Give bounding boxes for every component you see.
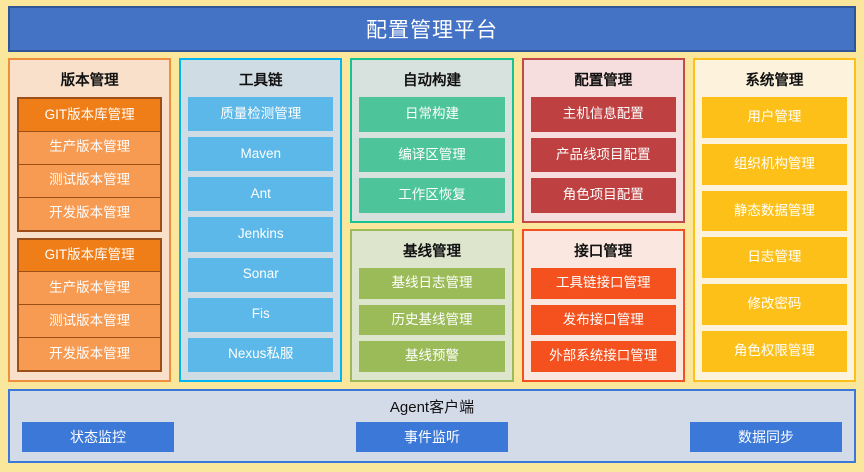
menu-item-git-repo-management[interactable]: GIT版本库管理 bbox=[19, 99, 160, 131]
agent-client-title: Agent客户端 bbox=[22, 396, 842, 422]
agent-client-buttons: 状态监控 事件监听 数据同步 bbox=[22, 422, 842, 452]
menu-item-role-project-config[interactable]: 角色项目配置 bbox=[531, 178, 676, 213]
menu-item-fis[interactable]: Fis bbox=[188, 298, 333, 332]
panel-baseline-management: 基线管理 基线日志管理 历史基线管理 基线预警 bbox=[350, 229, 513, 382]
agent-client-bar: Agent客户端 状态监控 事件监听 数据同步 bbox=[8, 389, 856, 463]
menu-item-test-version-management[interactable]: 测试版本管理 bbox=[19, 165, 160, 197]
menu-item-change-password[interactable]: 修改密码 bbox=[702, 284, 847, 325]
platform-header: 配置管理平台 bbox=[8, 6, 856, 52]
menu-item-daily-build[interactable]: 日常构建 bbox=[359, 97, 504, 132]
menu-item-host-info-config[interactable]: 主机信息配置 bbox=[531, 97, 676, 132]
agent-button-event-listener[interactable]: 事件监听 bbox=[356, 422, 508, 452]
menu-item-jenkins[interactable]: Jenkins bbox=[188, 217, 333, 251]
menu-item-workspace-recovery[interactable]: 工作区恢复 bbox=[359, 178, 504, 213]
panel-title-version-management: 版本管理 bbox=[17, 66, 162, 97]
menu-item-product-line-project-config[interactable]: 产品线项目配置 bbox=[531, 138, 676, 173]
page-title: 配置管理平台 bbox=[366, 14, 498, 44]
panel-title-system-management: 系统管理 bbox=[702, 66, 847, 97]
column-system-management: 系统管理 用户管理 组织机构管理 静态数据管理 日志管理 修改密码 角色权限管理 bbox=[693, 58, 856, 382]
module-columns: 版本管理 GIT版本库管理 生产版本管理 测试版本管理 开发版本管理 GIT版本… bbox=[8, 58, 856, 382]
menu-item-production-version-management[interactable]: 生产版本管理 bbox=[19, 132, 160, 164]
menu-item-log-management[interactable]: 日志管理 bbox=[702, 237, 847, 278]
menu-item-history-baseline-management[interactable]: 历史基线管理 bbox=[359, 305, 504, 336]
version-group-1: GIT版本库管理 生产版本管理 测试版本管理 开发版本管理 bbox=[17, 97, 162, 232]
panel-system-management: 系统管理 用户管理 组织机构管理 静态数据管理 日志管理 修改密码 角色权限管理 bbox=[693, 58, 856, 382]
panel-auto-build: 自动构建 日常构建 编译区管理 工作区恢复 bbox=[350, 58, 513, 223]
column-version-management: 版本管理 GIT版本库管理 生产版本管理 测试版本管理 开发版本管理 GIT版本… bbox=[8, 58, 171, 382]
menu-item-sonar[interactable]: Sonar bbox=[188, 258, 333, 292]
column-toolchain: 工具链 质量检测管理 Maven Ant Jenkins Sonar Fis N… bbox=[179, 58, 342, 382]
menu-item-ant[interactable]: Ant bbox=[188, 177, 333, 211]
panel-title-baseline-management: 基线管理 bbox=[359, 237, 504, 268]
agent-button-status-monitor[interactable]: 状态监控 bbox=[22, 422, 174, 452]
menu-item-maven[interactable]: Maven bbox=[188, 137, 333, 171]
menu-item-compile-area-management[interactable]: 编译区管理 bbox=[359, 138, 504, 173]
menu-item-dev-version-management[interactable]: 开发版本管理 bbox=[19, 198, 160, 230]
menu-item-organization-management[interactable]: 组织机构管理 bbox=[702, 144, 847, 185]
menu-item-static-data-management[interactable]: 静态数据管理 bbox=[702, 191, 847, 232]
panel-toolchain: 工具链 质量检测管理 Maven Ant Jenkins Sonar Fis N… bbox=[179, 58, 342, 382]
panel-title-auto-build: 自动构建 bbox=[359, 66, 504, 97]
panel-interface-management: 接口管理 工具链接口管理 发布接口管理 外部系统接口管理 bbox=[522, 229, 685, 382]
app-root: 配置管理平台 版本管理 GIT版本库管理 生产版本管理 测试版本管理 开发版本管… bbox=[0, 0, 864, 472]
menu-item-quality-inspection-management[interactable]: 质量检测管理 bbox=[188, 97, 333, 131]
menu-item-production-version-management-2[interactable]: 生产版本管理 bbox=[19, 272, 160, 304]
menu-item-role-permission-management[interactable]: 角色权限管理 bbox=[702, 331, 847, 372]
panel-title-config-management: 配置管理 bbox=[531, 66, 676, 97]
menu-item-baseline-alert[interactable]: 基线预警 bbox=[359, 341, 504, 372]
panel-config-management: 配置管理 主机信息配置 产品线项目配置 角色项目配置 bbox=[522, 58, 685, 223]
menu-item-release-interface-management[interactable]: 发布接口管理 bbox=[531, 305, 676, 336]
panel-title-interface-management: 接口管理 bbox=[531, 237, 676, 268]
menu-item-git-repo-management-2[interactable]: GIT版本库管理 bbox=[19, 240, 160, 272]
menu-item-baseline-log-management[interactable]: 基线日志管理 bbox=[359, 268, 504, 299]
panel-version-management: 版本管理 GIT版本库管理 生产版本管理 测试版本管理 开发版本管理 GIT版本… bbox=[8, 58, 171, 382]
agent-button-data-sync[interactable]: 数据同步 bbox=[690, 422, 842, 452]
column-build-baseline: 自动构建 日常构建 编译区管理 工作区恢复 基线管理 基线日志管理 历史基线管理… bbox=[350, 58, 513, 382]
column-config-interface: 配置管理 主机信息配置 产品线项目配置 角色项目配置 接口管理 工具链接口管理 … bbox=[522, 58, 685, 382]
menu-item-external-system-interface-management[interactable]: 外部系统接口管理 bbox=[531, 341, 676, 372]
menu-item-dev-version-management-2[interactable]: 开发版本管理 bbox=[19, 338, 160, 370]
panel-title-toolchain: 工具链 bbox=[188, 66, 333, 97]
menu-item-nexus-private-server[interactable]: Nexus私服 bbox=[188, 338, 333, 372]
version-group-2: GIT版本库管理 生产版本管理 测试版本管理 开发版本管理 bbox=[17, 238, 162, 373]
menu-item-test-version-management-2[interactable]: 测试版本管理 bbox=[19, 305, 160, 337]
menu-item-user-management[interactable]: 用户管理 bbox=[702, 97, 847, 138]
menu-item-toolchain-interface-management[interactable]: 工具链接口管理 bbox=[531, 268, 676, 299]
